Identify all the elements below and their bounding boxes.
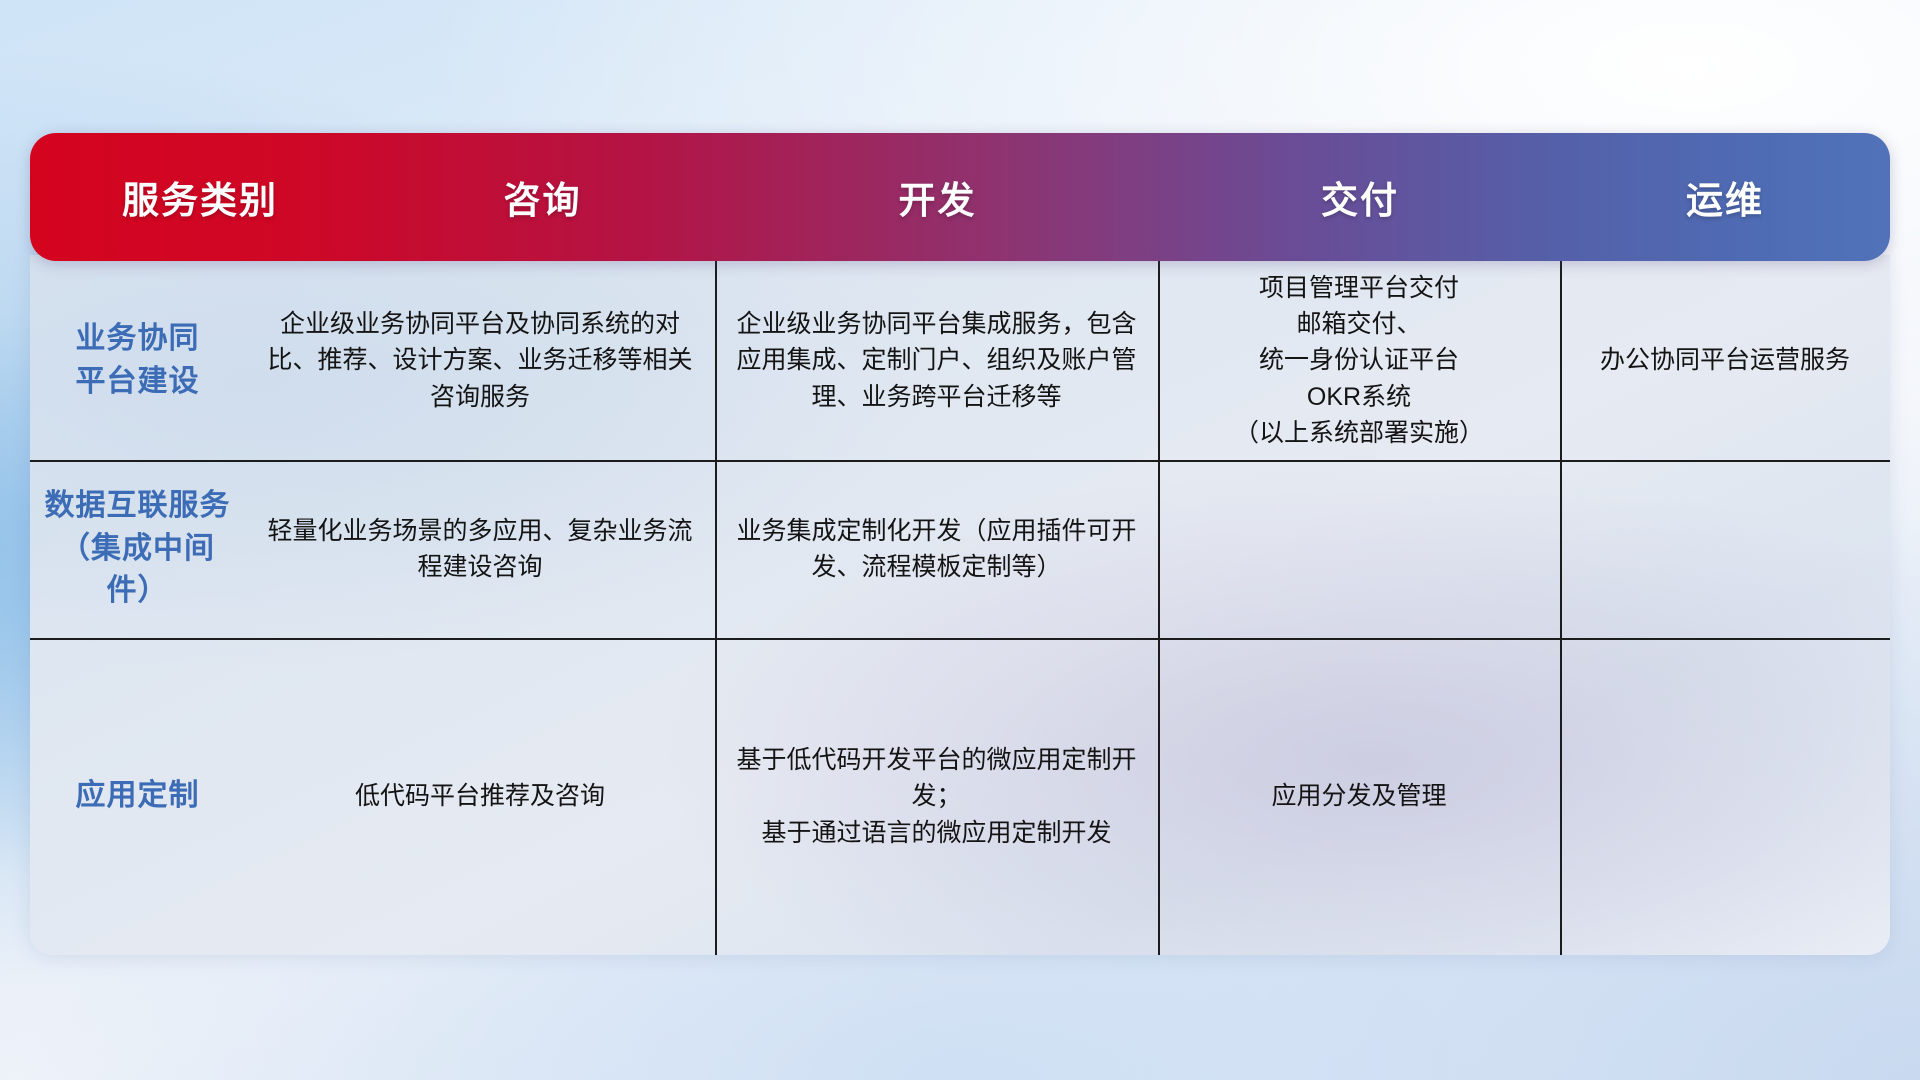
table-header-row: 服务类别 咨询 开发 交付 运维	[30, 133, 1890, 261]
cell-consulting: 轻量化业务场景的多应用、复杂业务流程建设咨询	[257, 513, 703, 586]
column-header-delivery: 交付	[1160, 170, 1560, 224]
cell-development: 基于低代码开发平台的微应用定制开发； 基于通过语言的微应用定制开发	[727, 742, 1146, 851]
column-header-operations: 运维	[1560, 170, 1890, 224]
row-category-label: 数据互联服务 （集成中间件）	[42, 485, 233, 613]
cell-development: 业务集成定制化开发（应用插件可开发、流程模板定制等）	[727, 513, 1146, 586]
row-category-label: 业务协同 平台建设	[76, 318, 200, 403]
cell-delivery: 项目管理平台交付 邮箱交付、 统一身份认证平台 OKR系统 （以上系统部署实施）	[1234, 270, 1484, 451]
cell-operations: 办公协同平台运营服务	[1600, 342, 1850, 378]
column-header-category: 服务类别	[30, 170, 370, 224]
table-row: 应用定制 低代码平台推荐及咨询 基于低代码开发平台的微应用定制开发； 基于通过语…	[30, 638, 1890, 955]
service-matrix-table: 服务类别 咨询 开发 交付 运维 业务协同 平台建设 企业级业务协同平台及协同系…	[30, 133, 1890, 955]
table-row: 业务协同 平台建设 企业级业务协同平台及协同系统的对比、推荐、设计方案、业务迁移…	[30, 261, 1890, 460]
cell-consulting: 企业级业务协同平台及协同系统的对比、推荐、设计方案、业务迁移等相关咨询服务	[257, 306, 703, 415]
cell-development: 企业级业务协同平台集成服务，包含应用集成、定制门户、组织及账户管理、业务跨平台迁…	[727, 306, 1146, 415]
cell-consulting: 低代码平台推荐及咨询	[355, 778, 605, 814]
table-row: 数据互联服务 （集成中间件） 轻量化业务场景的多应用、复杂业务流程建设咨询 业务…	[30, 460, 1890, 638]
column-header-development: 开发	[715, 170, 1160, 224]
row-category-label: 应用定制	[76, 775, 200, 818]
table-body: 业务协同 平台建设 企业级业务协同平台及协同系统的对比、推荐、设计方案、业务迁移…	[30, 261, 1890, 955]
cell-delivery: 应用分发及管理	[1271, 778, 1446, 814]
column-header-consulting: 咨询	[370, 170, 715, 224]
